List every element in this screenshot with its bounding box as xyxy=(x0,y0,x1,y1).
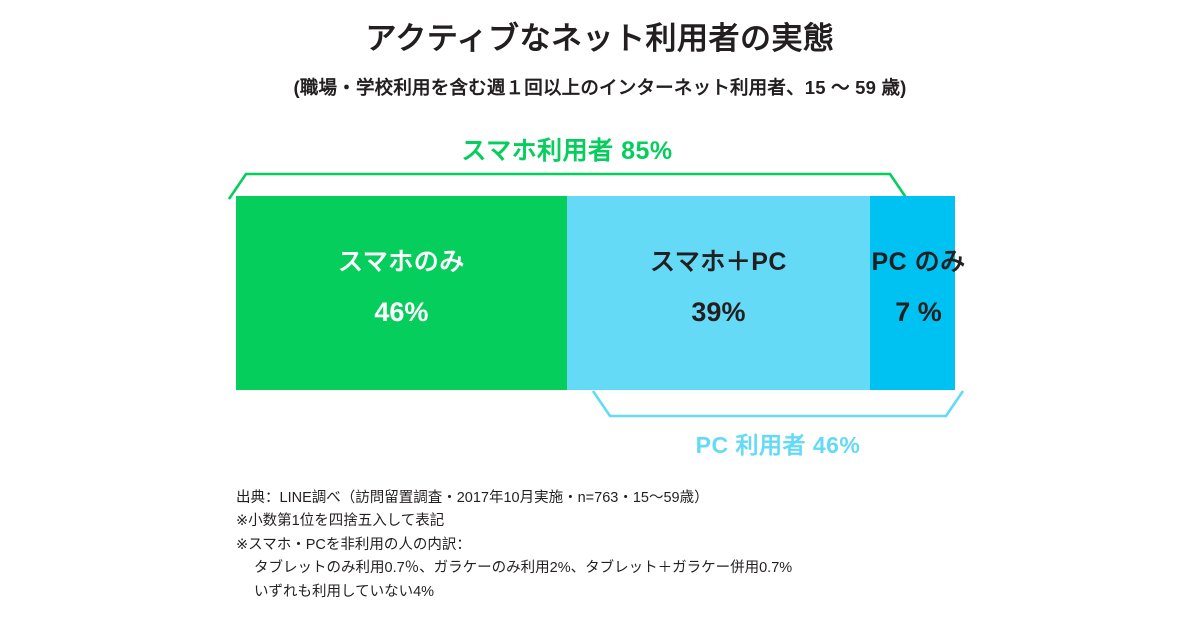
segment-label: PC のみ xyxy=(871,242,965,278)
pc-users-bracket xyxy=(592,390,964,422)
segment-label: スマホのみ xyxy=(338,242,465,278)
segment-value: 7 % xyxy=(895,297,942,328)
footnote-nonuser-detail: タブレットのみ利用0.7％、ガラケーのみ利用2%、タブレット＋ガラケー併用0.7… xyxy=(236,557,792,580)
bar-segment-smartphone-only[interactable]: スマホのみ 46% xyxy=(236,196,567,390)
pc-users-bracket-label: PC 利用者 46% xyxy=(601,426,955,460)
footnote-source: 出典：LINE調べ（訪問留置調査・2017年10月実施・n=763・15〜59歳… xyxy=(236,487,792,510)
segment-value: 46% xyxy=(374,297,428,328)
footnotes: 出典：LINE調べ（訪問留置調査・2017年10月実施・n=763・15〜59歳… xyxy=(236,487,792,604)
bar-track: スマホのみ 46% スマホ＋PC 39% PC のみ 7 % xyxy=(236,196,955,390)
segment-label: スマホ＋PC xyxy=(650,242,787,278)
footnote-rounding: ※小数第1位を四捨五入して表記 xyxy=(236,510,792,533)
footnote-nonuser-heading: ※スマホ・PCを非利用の人の内訳： xyxy=(236,534,792,557)
bar-segment-pc-only[interactable]: PC のみ 7 % xyxy=(870,196,955,390)
bar-segment-smartphone-plus-pc[interactable]: スマホ＋PC 39% xyxy=(567,196,870,390)
segment-value: 39% xyxy=(691,297,745,328)
footnote-nonuser-none: いずれも利用していない4% xyxy=(236,581,792,604)
bracket-bottom-path xyxy=(593,391,963,416)
smartphone-users-bracket-label: スマホ利用者 85% xyxy=(236,131,898,167)
